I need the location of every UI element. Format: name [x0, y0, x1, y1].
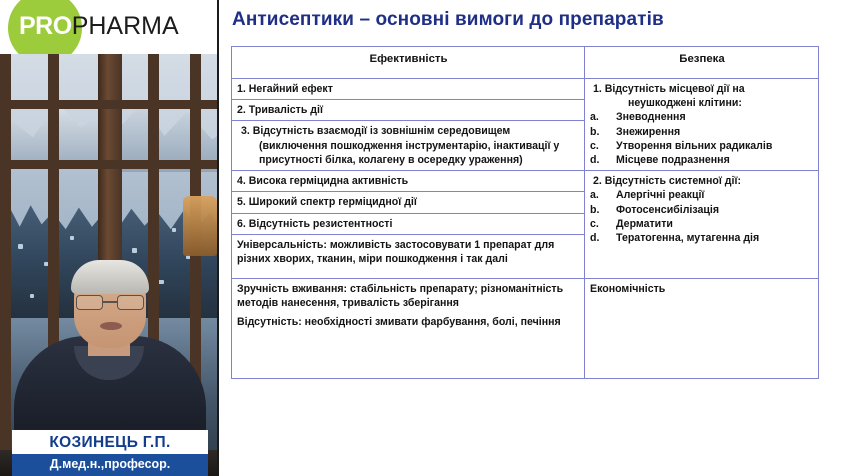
list-marker: b.: [590, 203, 616, 217]
table-header-row: Ефективність Безпека: [232, 47, 819, 79]
logo-pharma-text: PHARMA: [72, 12, 179, 40]
safety-group-1-title: 1. Відсутність місцевої дії на: [590, 82, 814, 96]
column-header-efficacy: Ефективність: [232, 47, 585, 79]
page-title: Антисептики – основні вимоги до препарат…: [232, 9, 664, 31]
speaker-name: КОЗИНЕЦЬ Г.П.: [12, 430, 208, 454]
list-item-text: Зневоднення: [616, 110, 814, 124]
safety-group-1-title-cont: неушкоджені клітини:: [590, 96, 814, 110]
efficacy-item-3-sub: (виключення пошкодження інструментарію, …: [237, 139, 580, 167]
list-marker: a.: [590, 110, 616, 124]
window-mullion: [0, 160, 219, 169]
safety-group-2-item: a. Алергічні реакції: [590, 188, 814, 202]
efficacy-item-5: 5. Широкий спектр гермiцидної дії: [232, 192, 585, 213]
efficacy-convenience-absence: Зручність вживання: стабільність препара…: [232, 278, 585, 378]
safety-group-1-item: c. Утворення вільних радикалів: [590, 139, 814, 153]
snow-speck: [172, 228, 176, 232]
efficacy-item-6: 6. Відсутність резистентності: [232, 213, 585, 234]
speaker-mouth: [100, 322, 122, 330]
list-item-text: Фотосенсибілізація: [616, 203, 814, 217]
safety-group-1: 1. Відсутність місцевої дії на неушкодже…: [585, 79, 819, 171]
efficacy-item-4: 4. Висока гермiцидна активність: [232, 171, 585, 192]
efficacy-item-2: 2. Тривалість дії: [232, 100, 585, 121]
list-marker: d.: [590, 231, 616, 245]
safety-economy: Економічність: [585, 278, 819, 378]
logo-wordmark: PROPHARMA: [19, 12, 179, 40]
list-item-text: Тератогенна, мутагенна дія: [616, 231, 814, 245]
safety-group-1-item: b. Знежирення: [590, 125, 814, 139]
efficacy-item-3: 3. Відсутність взаємодії із зовнішнім се…: [232, 121, 585, 171]
requirements-table: Ефективність Безпека 1. Негайний ефект 1…: [231, 46, 819, 379]
efficacy-item-3-main: 3. Відсутність взаємодії із зовнішнім се…: [237, 124, 580, 138]
efficacy-universality: Універсальність: можливість застосовуват…: [232, 234, 585, 278]
speaker-credentials: Д.мед.н.,професор.: [12, 454, 208, 476]
efficacy-absence: Відсутність: необхідності змивати фарбув…: [237, 310, 580, 329]
list-marker: c.: [590, 139, 616, 153]
table-row: 1. Негайний ефект 1. Відсутність місцево…: [232, 79, 819, 100]
slide-content: Антисептики – основні вимоги до препарат…: [221, 0, 850, 476]
safety-group-1-item: d. Місцеве подразнення: [590, 153, 814, 167]
list-item-text: Утворення вільних радикалів: [616, 139, 814, 153]
eyeglasses-icon: [76, 295, 144, 310]
list-marker: d.: [590, 153, 616, 167]
safety-group-2-item: c. Дерматити: [590, 217, 814, 231]
logo-pro-text: PRO: [19, 12, 72, 40]
list-marker: b.: [590, 125, 616, 139]
propharma-logo: PROPHARMA: [0, 0, 219, 54]
safety-group-1-item: a. Зневоднення: [590, 110, 814, 124]
window-mullion: [0, 100, 219, 109]
list-item-text: Знежирення: [616, 125, 814, 139]
speaker-video-panel: КОЗИНЕЦЬ Г.П. Д.мед.н.,професор. PROPHAR…: [0, 0, 219, 476]
safety-group-2-item: b. Фотосенсибілізація: [590, 203, 814, 217]
efficacy-convenience: Зручність вживання: стабільність препара…: [237, 282, 580, 310]
column-header-safety: Безпека: [585, 47, 819, 79]
efficacy-item-1: 1. Негайний ефект: [232, 79, 585, 100]
speaker-hair: [71, 260, 149, 294]
list-marker: c.: [590, 217, 616, 231]
snow-speck: [70, 236, 74, 240]
safety-group-2-item: d. Тератогенна, мутагенна дія: [590, 231, 814, 245]
presentation-slide: КОЗИНЕЦЬ Г.П. Д.мед.н.,професор. PROPHAR…: [0, 0, 850, 476]
safety-group-2: 2. Відсутність системної дії: a. Алергіч…: [585, 171, 819, 279]
list-item-text: Дерматити: [616, 217, 814, 231]
list-item-text: Місцеве подразнення: [616, 153, 814, 167]
list-marker: a.: [590, 188, 616, 202]
table-row: Зручність вживання: стабільність препара…: [232, 278, 819, 378]
speaker-name-banner: КОЗИНЕЦЬ Г.П. Д.мед.н.,професор.: [12, 430, 208, 476]
safety-group-2-title: 2. Відсутність системної дії:: [590, 174, 814, 188]
table-row: 4. Висока гермiцидна активність 2. Відсу…: [232, 171, 819, 192]
list-item-text: Алергічні реакції: [616, 188, 814, 202]
